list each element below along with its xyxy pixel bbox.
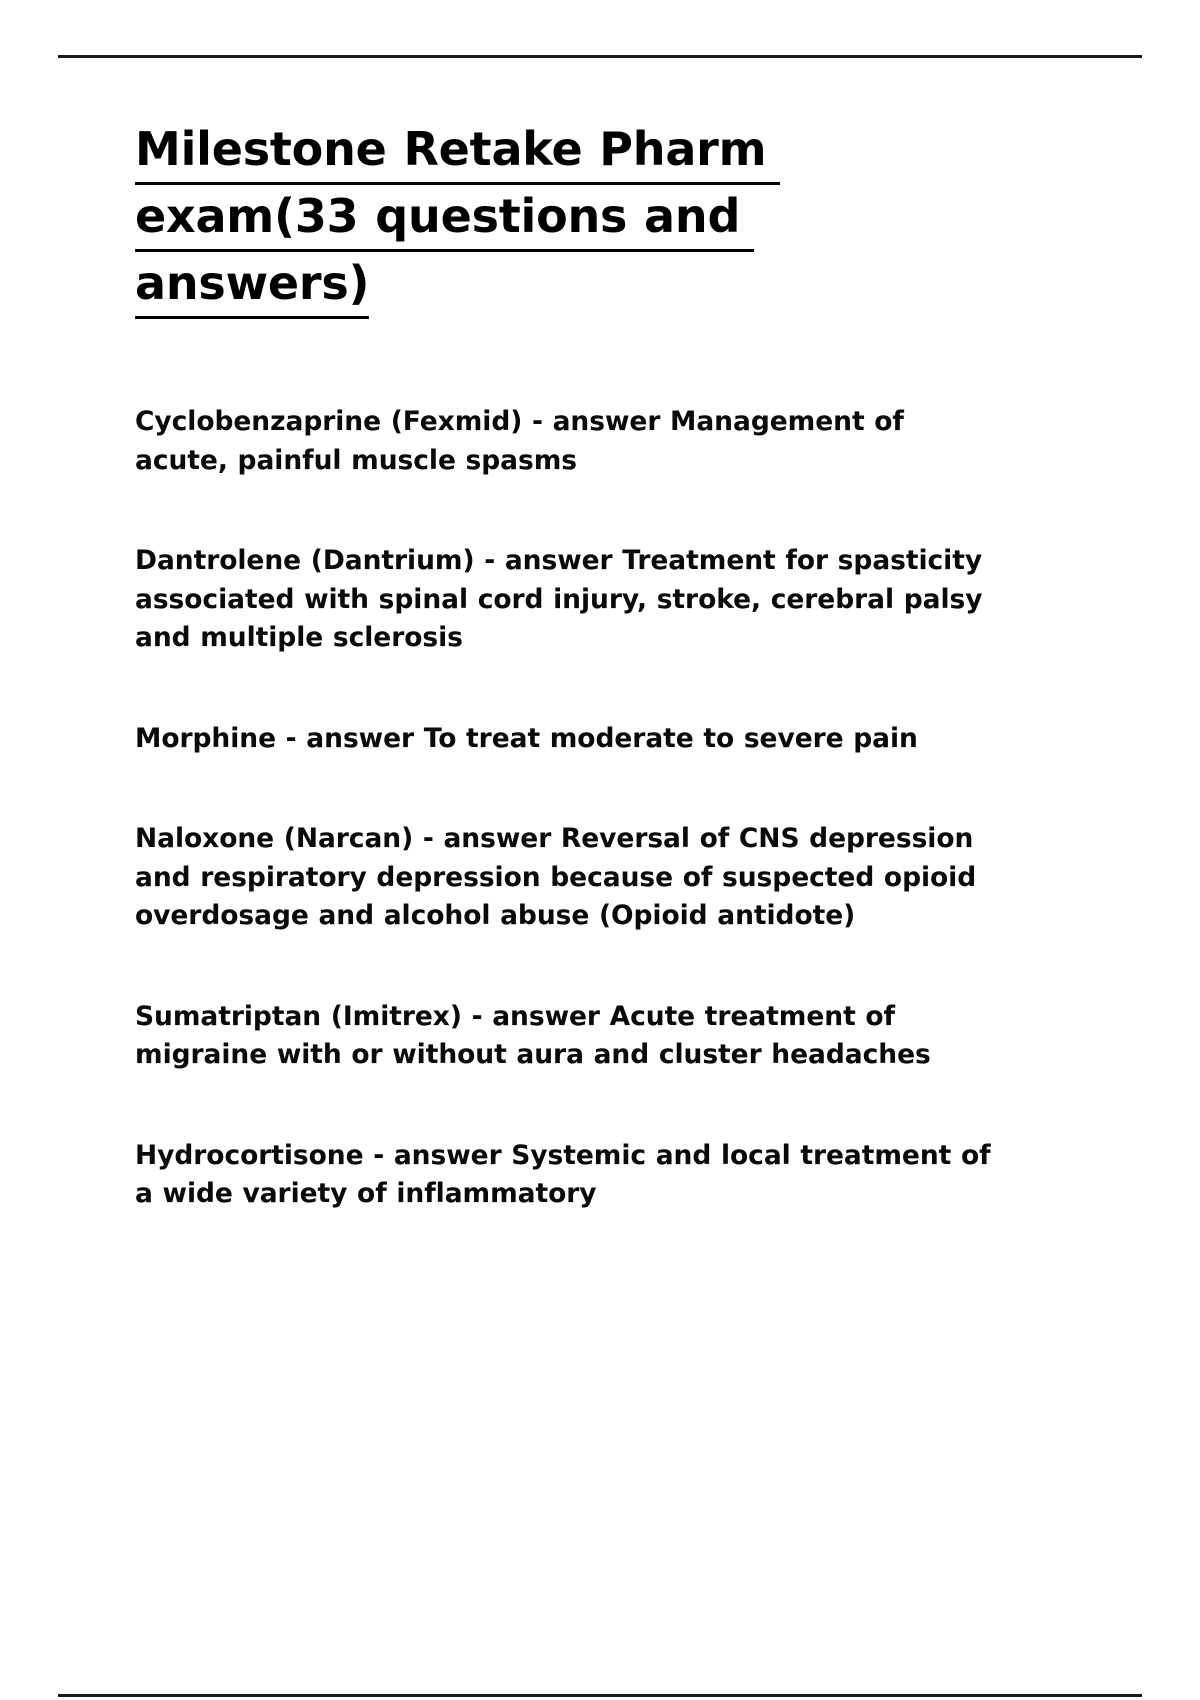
- qa-entry-text: Dantrolene (Dantrium) - answer Treatment…: [135, 542, 1005, 658]
- qa-entry-text: Cyclobenzaprine (Fexmid) - answer Manage…: [135, 403, 1005, 480]
- qa-entry-morphine: Morphine - answer To treat moderate to s…: [135, 720, 1005, 759]
- page-title-line-1: Milestone Retake Pharm: [135, 118, 780, 185]
- qa-entry-cyclobenzaprine: Cyclobenzaprine (Fexmid) - answer Manage…: [135, 403, 1005, 480]
- qa-entry-sumatriptan: Sumatriptan (Imitrex) - answer Acute tre…: [135, 998, 1005, 1075]
- qa-entry-naloxone: Naloxone (Narcan) - answer Reversal of C…: [135, 820, 1005, 936]
- document-content: Milestone Retake Pharm exam(33 questions…: [135, 118, 1005, 1214]
- qa-entry-text: Sumatriptan (Imitrex) - answer Acute tre…: [135, 998, 1005, 1075]
- footer-rule: [58, 1694, 1142, 1697]
- page-title-line-3: answers): [135, 252, 369, 319]
- qa-entry-text: Hydrocortisone - answer Systemic and loc…: [135, 1137, 1005, 1214]
- document-page: Milestone Retake Pharm exam(33 questions…: [0, 0, 1200, 1700]
- qa-entry-hydrocortisone: Hydrocortisone - answer Systemic and loc…: [135, 1137, 1005, 1214]
- page-title: Milestone Retake Pharm exam(33 questions…: [135, 118, 1005, 319]
- header-rule: [58, 55, 1142, 58]
- page-title-line-2: exam(33 questions and: [135, 185, 754, 252]
- qa-entry-text: Naloxone (Narcan) - answer Reversal of C…: [135, 820, 1005, 936]
- qa-entry-dantrolene: Dantrolene (Dantrium) - answer Treatment…: [135, 542, 1005, 658]
- title-body-spacer: [135, 319, 1005, 403]
- qa-list: Cyclobenzaprine (Fexmid) - answer Manage…: [135, 403, 1005, 1214]
- qa-entry-text: Morphine - answer To treat moderate to s…: [135, 720, 1005, 759]
